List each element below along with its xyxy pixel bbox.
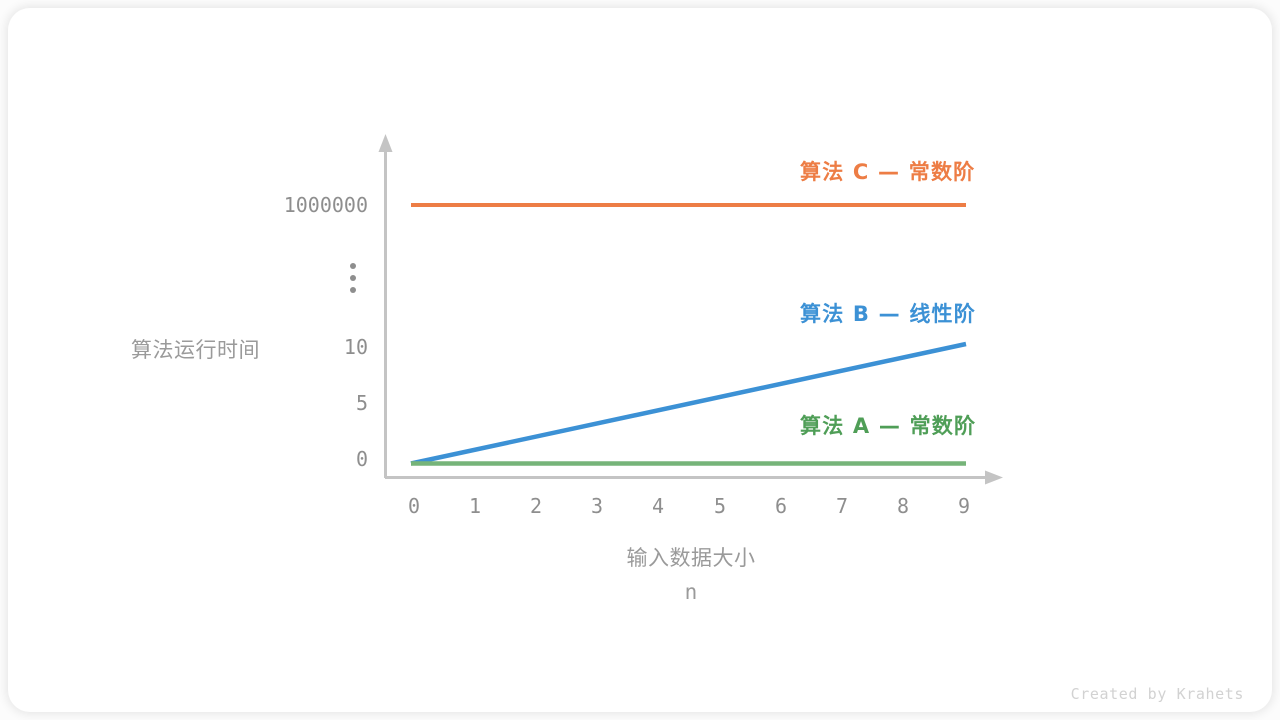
credit-text: Created by Krahets [1071, 685, 1244, 703]
legend-label-algorithm-a: 算法 A — 常数阶 [800, 410, 976, 440]
series-line-algorithm-b [411, 344, 966, 464]
x-axis-title-variable: n [508, 574, 874, 610]
x-tick-label-7: 7 [836, 494, 848, 518]
y-tick-label-0: 0 [258, 447, 368, 471]
page-background: 算法运行时间 1000000 10 5 0 0 1 2 3 4 5 6 7 8 … [0, 0, 1280, 720]
x-tick-label-9: 9 [958, 494, 970, 518]
x-axis-title: 输入数据大小 n [508, 543, 874, 610]
x-tick-label-2: 2 [530, 494, 542, 518]
y-tick-label-5: 5 [258, 391, 368, 415]
x-axis-title-text: 输入数据大小 [508, 543, 874, 574]
x-tick-label-0: 0 [408, 494, 420, 518]
y-axis-arrow-icon [379, 134, 393, 152]
y-tick-label-1000000: 1000000 [258, 193, 368, 217]
x-tick-label-5: 5 [714, 494, 726, 518]
x-tick-label-4: 4 [652, 494, 664, 518]
y-axis-break-ellipsis-icon [348, 263, 357, 293]
y-tick-label-10: 10 [258, 335, 368, 359]
x-tick-label-8: 8 [897, 494, 909, 518]
x-tick-label-1: 1 [469, 494, 481, 518]
legend-label-algorithm-b: 算法 B — 线性阶 [800, 298, 976, 328]
y-axis-title: 算法运行时间 [131, 334, 260, 364]
x-axis-arrow-icon [985, 471, 1003, 485]
legend-label-algorithm-c: 算法 C — 常数阶 [800, 156, 975, 186]
x-tick-label-3: 3 [591, 494, 603, 518]
x-tick-label-6: 6 [775, 494, 787, 518]
